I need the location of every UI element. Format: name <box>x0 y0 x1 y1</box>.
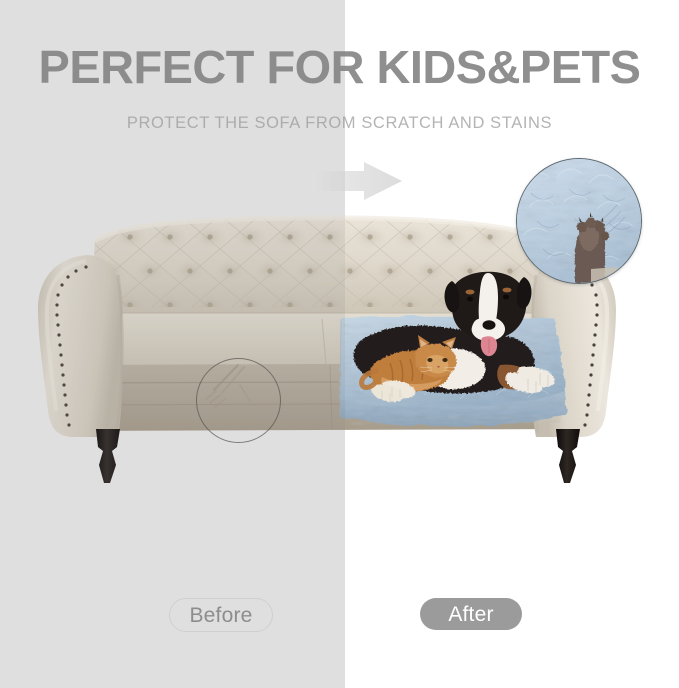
label-after-text: After <box>448 604 493 625</box>
headline: PERFECT FOR KIDS&PETS <box>0 44 679 90</box>
leg-left <box>96 429 120 483</box>
leg-right <box>556 429 580 483</box>
sofa-legs <box>96 429 580 483</box>
product-comparison-image: PERFECT FOR KIDS&PETS PROTECT THE SOFA F… <box>0 0 679 688</box>
label-after-pill[interactable]: After <box>420 598 522 630</box>
subheadline: PROTECT THE SOFA FROM SCRATCH AND STAINS <box>0 115 679 132</box>
label-before-pill[interactable]: Before <box>169 598 273 632</box>
zoom-detail-circle <box>516 158 642 284</box>
label-before-text: Before <box>189 605 252 626</box>
sofa-arm-left <box>38 255 122 437</box>
arrow-icon <box>312 162 402 200</box>
